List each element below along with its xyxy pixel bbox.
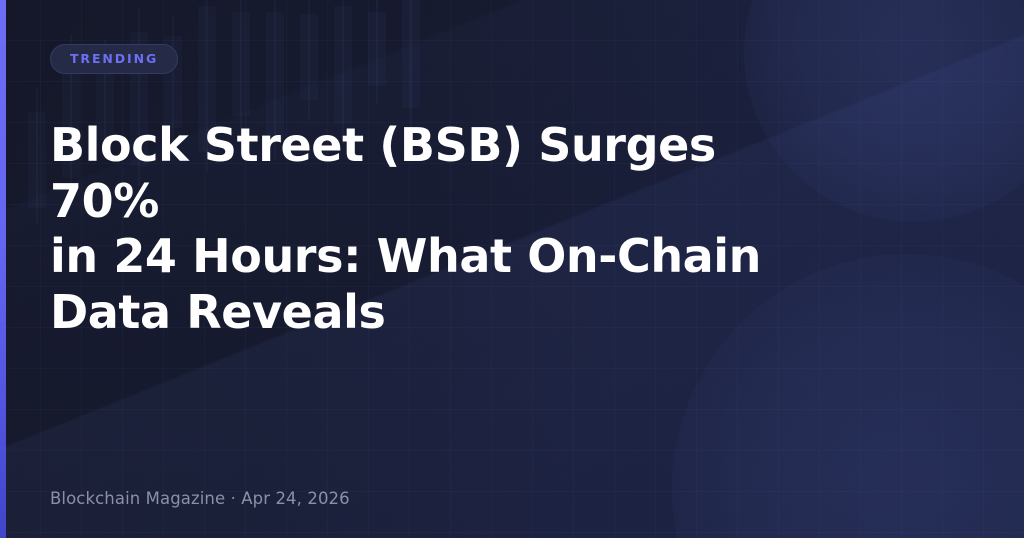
card-content: TRENDING Block Street (BSB) Surges 70% i… <box>0 0 1024 538</box>
byline: Blockchain Magazine · Apr 24, 2026 <box>50 489 968 508</box>
page-title: Block Street (BSB) Surges 70% in 24 Hour… <box>50 118 810 341</box>
article-hero-card: TRENDING Block Street (BSB) Surges 70% i… <box>0 0 1024 538</box>
status-badge: TRENDING <box>50 44 178 74</box>
